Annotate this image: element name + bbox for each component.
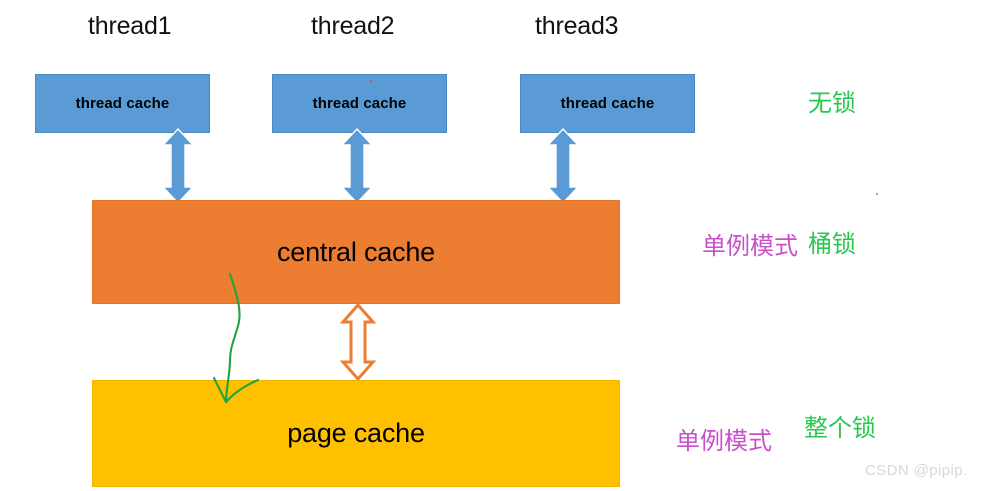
thread-cache-box-2: thread cache: [272, 74, 447, 133]
handdrawn-green-arrow: [180, 260, 370, 420]
thread-label-2: thread2: [311, 14, 394, 39]
annotation-singleton-page: 单例模式: [676, 430, 772, 454]
blue-speck-artifact: [876, 193, 878, 195]
arrow-thread1-to-central: [158, 128, 198, 204]
annotation-whole-lock: 整个锁: [804, 417, 876, 441]
thread-cache-box-1: thread cache: [35, 74, 210, 133]
annotation-singleton-central: 单例模式: [702, 235, 798, 259]
arrow-thread2-to-central: [337, 128, 377, 204]
annotation-bucket-lock: 桶锁: [808, 233, 856, 257]
red-speck-artifact: [370, 80, 372, 82]
thread-label-1: thread1: [88, 14, 171, 39]
annotation-lock-free: 无锁: [808, 92, 856, 116]
thread-label-3: thread3: [535, 14, 618, 39]
arrow-thread3-to-central: [543, 128, 583, 204]
csdn-watermark: CSDN @pipip.: [865, 462, 968, 479]
thread-cache-box-3: thread cache: [520, 74, 695, 133]
diagram-canvas: thread1 thread2 thread3 thread cache thr…: [0, 0, 981, 491]
